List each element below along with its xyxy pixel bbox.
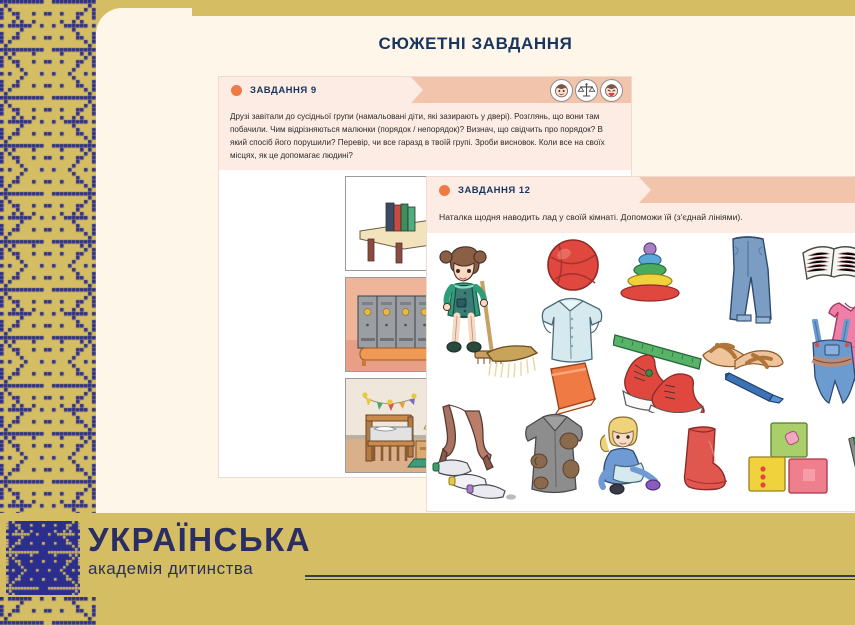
logo-rule-divider <box>305 575 855 580</box>
task-9-text: Друзі завітали до сусідньої групи (намал… <box>219 103 631 170</box>
object-toy-blocks <box>743 421 835 501</box>
object-red-ball <box>545 237 601 298</box>
object-stacking-ring-pyramid <box>615 241 685 308</box>
vyshyvanka-border-bottom <box>0 597 96 625</box>
object-red-boot <box>675 425 731 496</box>
object-blue-overalls <box>801 319 855 410</box>
object-grey-jacket <box>523 411 587 500</box>
vyshyvanka-border-left <box>0 0 96 520</box>
top-gold-strip <box>192 8 855 16</box>
face-boy-icon <box>550 79 573 102</box>
task-card-12[interactable]: ЗАВДАННЯ 12 <box>426 176 855 512</box>
task-12-object-grid <box>427 233 855 501</box>
face-laughing-icon <box>600 79 623 102</box>
brand-title: УКРАЇНСЬКА <box>88 523 311 556</box>
scales-balance-icon <box>575 79 598 102</box>
object-red-sneakers <box>619 345 707 418</box>
task-9-tab: ЗАВДАННЯ 9 <box>219 77 411 103</box>
footer-bar: УКРАЇНСЬКА академія дитинства <box>0 513 855 625</box>
object-green-notebook <box>839 429 855 501</box>
vyshyvanka-pattern-icon <box>0 0 96 520</box>
brand-subtitle: академія дитинства <box>88 559 311 579</box>
object-light-blue-shirt <box>535 295 607 370</box>
task-12-tab: ЗАВДАННЯ 12 <box>427 177 639 203</box>
logo-vyshyvanka-mark-icon <box>6 521 80 595</box>
object-blue-jeans <box>717 235 779 332</box>
object-paint-tubes <box>431 451 525 501</box>
task-12-text: Наталка щодня наводить лад у своїй кімна… <box>427 203 855 233</box>
bullet-dot-icon <box>231 85 242 96</box>
bullet-dot-icon <box>439 185 450 196</box>
task-9-label: ЗАВДАННЯ 9 <box>250 85 317 96</box>
page-title: СЮЖЕТНІ ЗАВДАННЯ <box>96 34 855 54</box>
task-9-header: ЗАВДАННЯ 9 <box>219 77 631 103</box>
worksheet-page: СЮЖЕТНІ ЗАВДАННЯ ЗАВДАННЯ 9 <box>96 8 855 513</box>
object-sitting-doll <box>595 415 667 500</box>
object-open-book <box>799 239 855 296</box>
task-12-label: ЗАВДАННЯ 12 <box>458 185 530 196</box>
task-9-badges <box>550 77 631 103</box>
task-12-header: ЗАВДАННЯ 12 <box>427 177 855 203</box>
object-scrub-brush <box>483 341 543 386</box>
object-blue-pen <box>725 367 787 410</box>
brand-logo: УКРАЇНСЬКА академія дитинства <box>88 523 311 579</box>
